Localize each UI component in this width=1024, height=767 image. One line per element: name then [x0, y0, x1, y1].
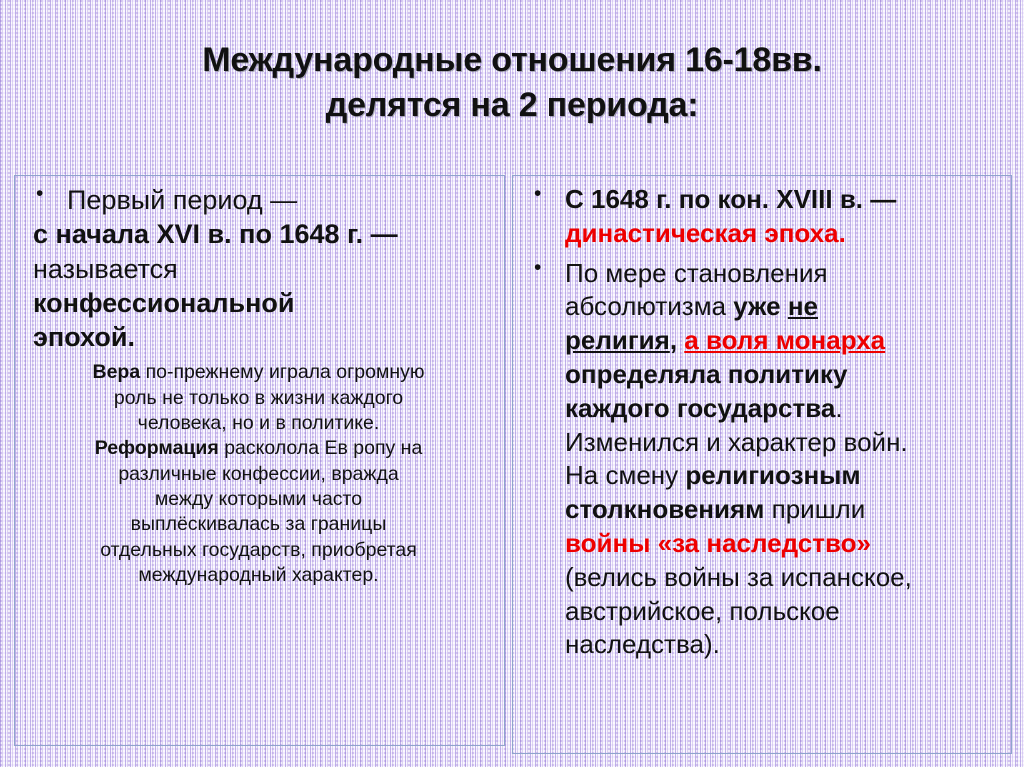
small-term-reformaciya: Реформация — [95, 437, 219, 459]
page-title: Международные отношения 16-18вв. делятся… — [0, 38, 1024, 128]
right-bullet-item-1: С 1648 г. по кон. XVIII в. — династическ… — [517, 183, 1005, 251]
small-line-5: различные конфессии, вражда — [41, 462, 476, 487]
right-bullet-list: С 1648 г. по кон. XVIII в. — династическ… — [517, 183, 1005, 662]
right-b2-l2-bold: уже — [733, 291, 788, 321]
right-b2-l3-monarch-will: а воля монарха — [684, 325, 885, 355]
right-b2-line2: абсолютизма уже не — [565, 290, 1005, 324]
right-b2-line11: австрийское, польское — [565, 595, 1005, 629]
left-period-panel: Первый период — с начала XVI в. по 1648 … — [14, 175, 505, 746]
small-line-2: роль не только в жизни каждого — [41, 386, 476, 411]
right-b2-l5-dot: . — [835, 393, 842, 423]
left-b1-line5-highlight: эпохой. — [19, 320, 498, 354]
right-b2-l3-comma: , — [670, 325, 684, 355]
right-b2-l5-bold: каждого государства — [565, 393, 835, 423]
left-bullet-list: Первый период — — [19, 183, 498, 217]
left-b1-line4-highlight: конфессиональной — [19, 286, 498, 320]
small-line-9: международный характер. — [41, 563, 476, 588]
right-b2-line12: наследства). — [565, 628, 1005, 662]
small-line-3: человека, но и в политике. — [41, 411, 476, 436]
left-bullet-item-1: Первый период — — [19, 183, 498, 217]
slide-background: Международные отношения 16-18вв. делятся… — [0, 0, 1024, 767]
right-b2-l8-rest: пришли — [764, 494, 865, 524]
right-b2-l3-religiya: религия — [565, 325, 670, 355]
right-b2-line8: столкновениям пришли — [565, 493, 1005, 527]
right-b2-l7-plain: На смену — [565, 460, 685, 490]
right-b2-line3: религия, а воля монарха — [565, 324, 1005, 358]
right-b2-line10: (велись войны за испанское, — [565, 561, 1005, 595]
right-panel-content: С 1648 г. по кон. XVIII в. — династическ… — [513, 176, 1011, 662]
small-term-vera: Вера — [92, 361, 140, 383]
small-line-4-rest: расколола Ев ропу на — [219, 437, 423, 459]
small-line-4: Реформация расколола Ев ропу на — [41, 436, 476, 461]
title-line-2: делятся на 2 периода: — [0, 83, 1024, 128]
right-bullet-item-2: По мере становления абсолютизма уже не р… — [517, 257, 1005, 663]
left-panel-content: Первый период — с начала XVI в. по 1648 … — [15, 176, 504, 589]
right-b1-line2-highlight: династическая эпоха. — [565, 217, 1005, 251]
right-b2-l7-bold: религиозным — [685, 460, 860, 490]
right-b2-line6: Изменился и характер войн. — [565, 426, 1005, 460]
left-b1-line2: с начала XVI в. по 1648 г. — — [19, 217, 498, 251]
title-line-1: Международные отношения 16-18вв. — [0, 38, 1024, 83]
small-line-7: выплёскивалась за границы — [41, 512, 476, 537]
right-b1-line1: С 1648 г. по кон. XVIII в. — — [565, 183, 1005, 217]
right-b2-line1: По мере становления — [565, 257, 1005, 291]
right-period-panel: С 1648 г. по кон. XVIII в. — династическ… — [512, 175, 1012, 754]
small-line-6: между которыми часто — [41, 487, 476, 512]
right-b2-l8-bold: столкновениям — [565, 494, 764, 524]
left-b1-line1: Первый период — — [67, 185, 297, 215]
left-explanatory-paragraph: Вера по-прежнему играла огромную роль не… — [19, 360, 498, 588]
small-line-1: Вера по-прежнему играла огромную — [41, 360, 476, 385]
right-b2-line9-highlight: войны «за наследство» — [565, 527, 1005, 561]
right-b2-line5: каждого государства. — [565, 392, 1005, 426]
right-b2-l2-bold-underline: не — [788, 291, 818, 321]
small-line-1-rest: по-прежнему играла огромную — [140, 361, 424, 383]
right-b2-line4: определяла политику — [565, 358, 1005, 392]
right-b2-l2-plain: абсолютизма — [565, 291, 733, 321]
right-b2-line7: На смену религиозным — [565, 459, 1005, 493]
left-b1-line3: называется — [19, 252, 498, 286]
small-line-8: отдельных государств, приобретая — [41, 538, 476, 563]
